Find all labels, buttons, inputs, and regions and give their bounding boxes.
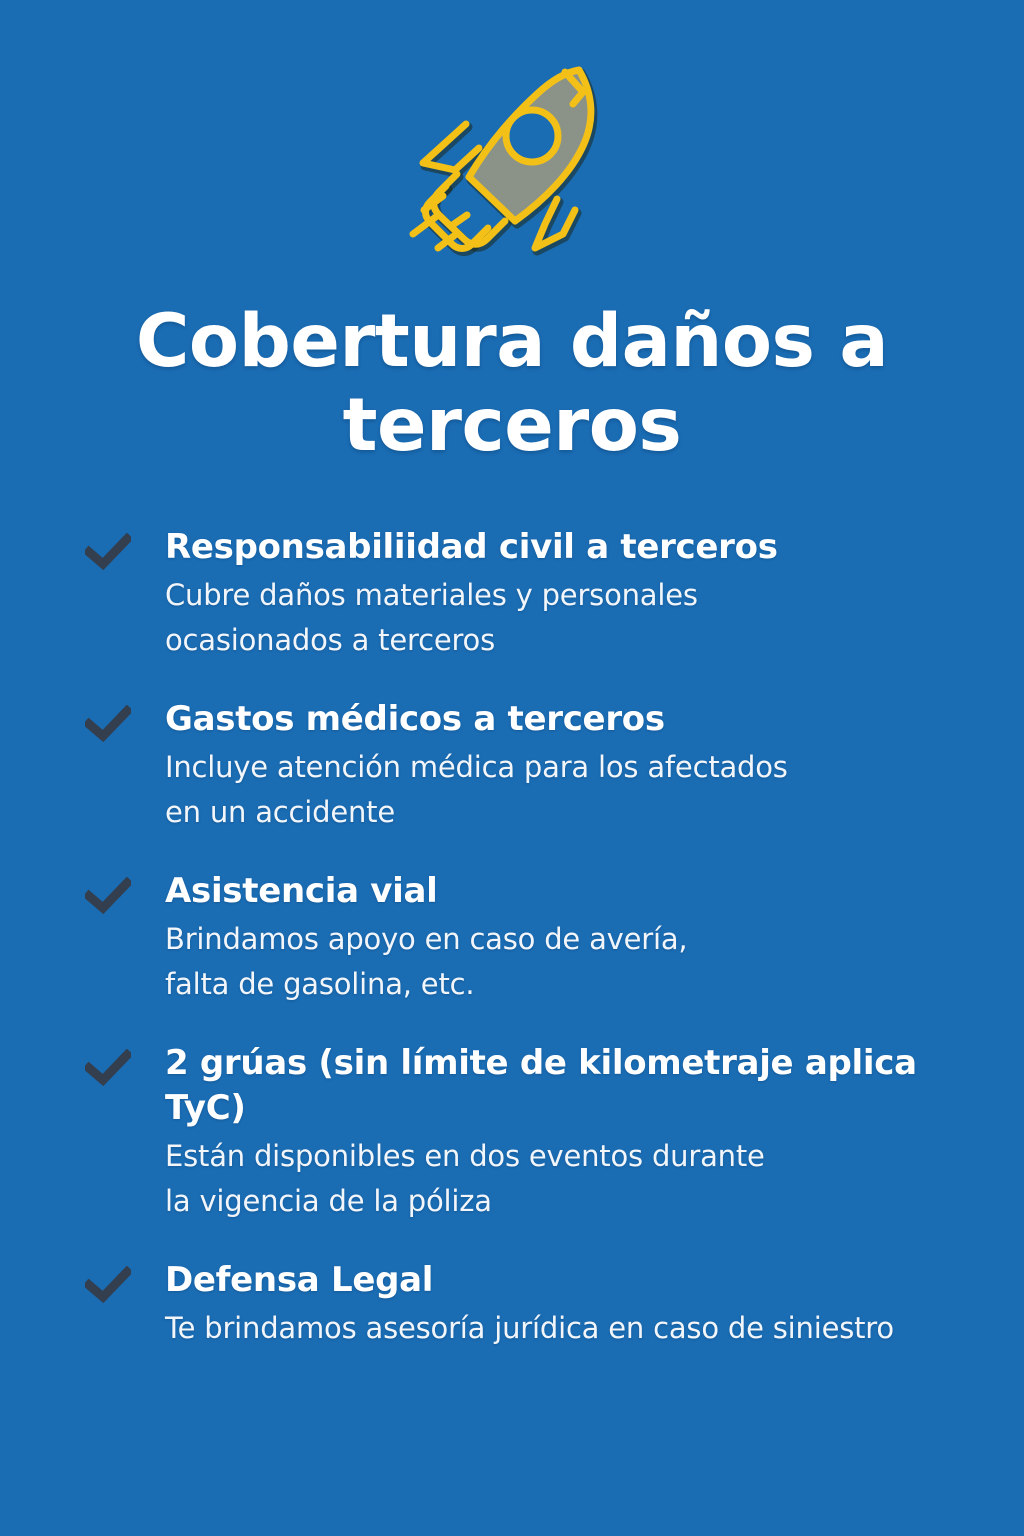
feature-title: Gastos médicos a terceros — [165, 697, 964, 742]
feature-description: Te brindamos asesoría jurídica en caso d… — [165, 1306, 964, 1351]
page-title: Cobertura daños a terceros — [0, 300, 1024, 468]
coverage-feature-list: Responsabiliidad civil a terceros Cubre … — [0, 525, 1024, 1351]
feature-title: 2 grúas (sin límite de kilometraje aplic… — [165, 1041, 964, 1131]
feature-title: Responsabiliidad civil a terceros — [165, 525, 964, 570]
list-item: Responsabiliidad civil a terceros Cubre … — [0, 525, 1024, 663]
feature-title: Defensa Legal — [165, 1258, 964, 1303]
feature-description: Están disponibles en dos eventos durante… — [165, 1134, 964, 1224]
list-item: Defensa Legal Te brindamos asesoría jurí… — [0, 1258, 1024, 1351]
feature-title: Asistencia vial — [165, 869, 964, 914]
check-icon — [85, 877, 131, 917]
list-item: Gastos médicos a terceros Incluye atenci… — [0, 697, 1024, 835]
check-icon — [85, 1266, 131, 1306]
hero-illustration-area — [0, 58, 1024, 273]
list-item: Asistencia vial Brindamos apoyo en caso … — [0, 869, 1024, 1007]
check-icon — [85, 1049, 131, 1089]
list-item: 2 grúas (sin límite de kilometraje aplic… — [0, 1041, 1024, 1224]
rocket-icon — [397, 58, 627, 273]
feature-description: Incluye atención médica para los afectad… — [165, 745, 964, 835]
feature-description: Brindamos apoyo en caso de avería, falta… — [165, 917, 964, 1007]
coverage-poster: Cobertura daños a terceros Responsabilii… — [0, 0, 1024, 1536]
check-icon — [85, 533, 131, 573]
feature-description: Cubre daños materiales y personales ocas… — [165, 573, 964, 663]
check-icon — [85, 705, 131, 745]
title-block: Cobertura daños a terceros — [0, 300, 1024, 468]
